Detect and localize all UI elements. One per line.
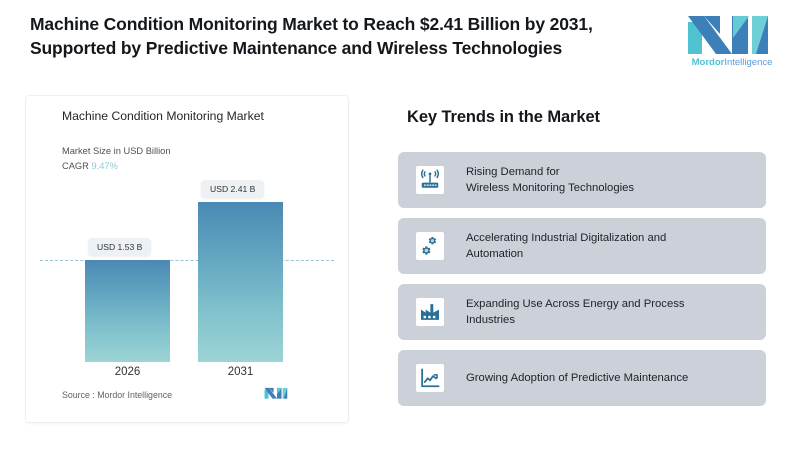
key-trends-panel: Key Trends in the Market Rising Dem	[398, 100, 766, 418]
chart-cagr-label: CAGR	[62, 161, 89, 171]
trend-card-label: Rising Demand for Wireless Monitoring Te…	[466, 164, 752, 196]
trend-card-label: Accelerating Industrial Digitalization a…	[466, 230, 752, 262]
brand-wordmark: MordorIntelligence	[686, 57, 778, 68]
trend-card-wireless[interactable]: Rising Demand for Wireless Monitoring Te…	[398, 152, 766, 208]
chart-title: Machine Condition Monitoring Market	[62, 108, 292, 124]
page-header: Machine Condition Monitoring Market to R…	[0, 0, 800, 92]
key-trends-title: Key Trends in the Market	[407, 108, 600, 127]
chart-plot-area: USD 1.53 B USD 2.41 B	[26, 180, 348, 362]
chart-source-label: Source : Mordor Intelligence	[62, 390, 172, 400]
bar-value-label-2026: USD 1.53 B	[88, 238, 151, 256]
bar-value-label-2031: USD 2.41 B	[201, 180, 264, 198]
growth-chart-icon	[416, 364, 444, 392]
key-trends-list: Rising Demand for Wireless Monitoring Te…	[398, 152, 766, 416]
brand-wordmark-bold: Mordor	[692, 57, 725, 68]
x-axis-tick-2031: 2031	[198, 366, 283, 378]
trend-card-label: Growing Adoption of Predictive Maintenan…	[466, 370, 752, 386]
brand-logo: MordorIntelligence	[686, 12, 778, 74]
trend-card-label: Expanding Use Across Energy and Process …	[466, 296, 752, 328]
mordor-intelligence-mark-icon	[686, 12, 778, 56]
chart-subtitle: Market Size in USD Billion	[62, 146, 171, 156]
market-size-chart-panel: Machine Condition Monitoring Market Mark…	[26, 96, 348, 422]
x-axis-tick-2026: 2026	[85, 366, 170, 378]
page-title: Machine Condition Monitoring Market to R…	[30, 12, 670, 60]
bar-2031	[198, 202, 283, 362]
chart-source-logo-icon	[264, 386, 290, 400]
bar-2026	[85, 260, 170, 362]
wireless-router-icon	[416, 166, 444, 194]
gears-icon	[416, 232, 444, 260]
chart-cagr: CAGR 9.47%	[62, 161, 118, 171]
brand-wordmark-light: Intelligence	[724, 57, 772, 68]
trend-card-predictive-maintenance[interactable]: Growing Adoption of Predictive Maintenan…	[398, 350, 766, 406]
trend-card-energy-process[interactable]: Expanding Use Across Energy and Process …	[398, 284, 766, 340]
factory-icon	[416, 298, 444, 326]
chart-cagr-value: 9.47%	[91, 161, 117, 171]
trend-card-digitalization[interactable]: Accelerating Industrial Digitalization a…	[398, 218, 766, 274]
